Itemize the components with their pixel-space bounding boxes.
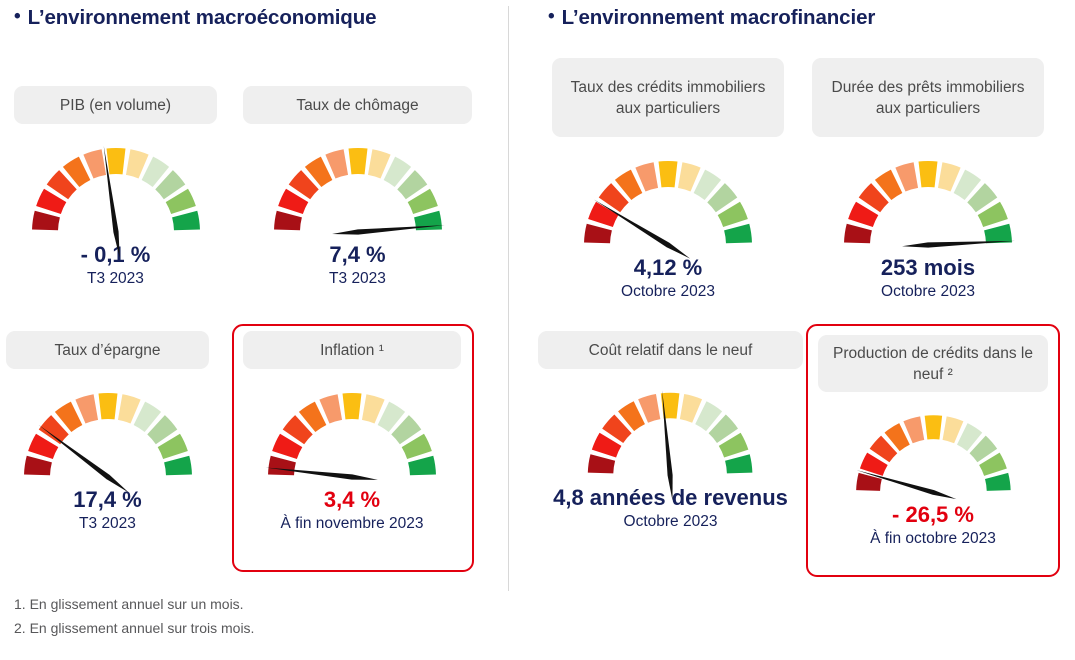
- gauge-label-chomage: Taux de chômage: [243, 86, 472, 124]
- gauge-segment: [32, 211, 60, 231]
- footnote-1: 1. En glissement annuel sur un mois.: [14, 592, 254, 616]
- infographic-board: •L’environnement macroéconomique •L’envi…: [0, 0, 1075, 660]
- gauge-chomage: [263, 138, 453, 238]
- gauge-label-inflation: Inflation ¹: [243, 331, 461, 369]
- gauge-segment: [588, 454, 615, 473]
- gauge-segment: [919, 161, 938, 187]
- panel-title-text: L’environnement macrofinancier: [562, 6, 876, 29]
- gauge-needle: [902, 241, 1015, 248]
- gauge-card-chomage: Taux de chômage7,4 %T3 2023: [243, 86, 472, 289]
- gauge-needle: [594, 200, 690, 259]
- gauge-dial: [13, 383, 203, 483]
- gauge-dial: [846, 406, 1021, 498]
- gauge-segment: [984, 224, 1012, 244]
- gauge-card-duree-prets: Durée des prêts immobiliers aux particul…: [812, 58, 1044, 302]
- gauge-value-epargne: 17,4 %: [6, 487, 209, 513]
- gauge-dial: [21, 138, 211, 238]
- gauge-label-epargne: Taux d’épargne: [6, 331, 209, 369]
- gauge-label-production-credits: Production de crédits dans le neuf ²: [818, 335, 1048, 392]
- gauge-duree-prets: [833, 151, 1023, 251]
- gauge-value-inflation: 3,4 %: [243, 487, 461, 513]
- gauge-period-cout-relatif: Octobre 2023: [538, 512, 803, 532]
- gauge-dial: [257, 383, 447, 483]
- gauge-value-production-credits: - 26,5 %: [818, 502, 1048, 528]
- gauge-dial: [577, 383, 763, 481]
- gauge-segment: [856, 473, 882, 491]
- gauge-segment: [172, 211, 200, 231]
- gauge-pib: [21, 138, 211, 238]
- footnotes: 1. En glissement annuel sur un mois. 2. …: [14, 592, 254, 640]
- gauge-segment: [725, 454, 752, 473]
- gauge-label-duree-prets: Durée des prêts immobiliers aux particul…: [812, 58, 1044, 137]
- gauge-period-chomage: T3 2023: [243, 269, 472, 289]
- gauge-segment: [348, 148, 367, 174]
- bullet-icon: •: [548, 7, 555, 26]
- gauge-card-production-credits: Production de crédits dans le neuf ²- 26…: [818, 335, 1048, 549]
- gauge-value-cout-relatif: 4,8 années de revenus: [538, 485, 803, 511]
- gauge-label-cout-relatif: Coût relatif dans le neuf: [538, 331, 803, 369]
- gauge-dial: [263, 138, 453, 238]
- gauge-dial: [573, 151, 763, 251]
- gauge-segment: [343, 393, 362, 419]
- gauge-label-taux-credits: Taux des crédits immobiliers aux particu…: [552, 58, 784, 137]
- gauge-period-pib: T3 2023: [14, 269, 217, 289]
- footnote-2: 2. En glissement annuel sur trois mois.: [14, 616, 254, 640]
- gauge-period-duree-prets: Octobre 2023: [812, 282, 1044, 302]
- gauge-segment: [408, 456, 436, 476]
- gauge-inflation: [257, 383, 447, 483]
- gauge-value-taux-credits: 4,12 %: [552, 255, 784, 281]
- gauge-period-taux-credits: Octobre 2023: [552, 282, 784, 302]
- gauge-card-pib: PIB (en volume)- 0,1 %T3 2023: [14, 86, 217, 289]
- gauge-card-epargne: Taux d’épargne17,4 %T3 2023: [6, 331, 209, 534]
- gauge-card-inflation: Inflation ¹3,4 %À fin novembre 2023: [243, 331, 461, 534]
- gauge-segment: [24, 456, 52, 476]
- gauge-epargne: [13, 383, 203, 483]
- gauge-dial: [833, 151, 1023, 251]
- gauge-segment: [584, 224, 612, 244]
- gauge-label-pib: PIB (en volume): [14, 86, 217, 124]
- gauge-production-credits: [846, 406, 1021, 498]
- gauge-segment: [844, 224, 872, 244]
- panel-title-macroeconomique: •L’environnement macroéconomique: [14, 6, 376, 30]
- gauge-segment: [268, 456, 296, 476]
- panel-title-macrofinancier: •L’environnement macrofinancier: [548, 6, 875, 30]
- bullet-icon: •: [14, 7, 21, 26]
- gauge-period-inflation: À fin novembre 2023: [243, 514, 461, 534]
- gauge-value-pib: - 0,1 %: [14, 242, 217, 268]
- gauge-card-taux-credits: Taux des crédits immobiliers aux particu…: [552, 58, 784, 302]
- gauge-period-production-credits: À fin octobre 2023: [818, 529, 1048, 549]
- gauge-segment: [659, 161, 678, 187]
- gauge-period-epargne: T3 2023: [6, 514, 209, 534]
- gauge-segment: [274, 211, 302, 231]
- panel-title-text: L’environnement macroéconomique: [28, 6, 377, 29]
- gauge-taux-credits: [573, 151, 763, 251]
- gauge-segment: [724, 224, 752, 244]
- gauge-card-cout-relatif: Coût relatif dans le neuf4,8 années de r…: [538, 331, 803, 532]
- gauge-segment: [985, 473, 1011, 491]
- gauge-segment: [98, 393, 117, 419]
- gauge-value-duree-prets: 253 mois: [812, 255, 1044, 281]
- gauge-cout-relatif: [577, 383, 763, 481]
- gauge-segment: [164, 456, 192, 476]
- gauge-segment: [106, 148, 125, 174]
- gauge-segment: [924, 415, 941, 439]
- gauge-value-chomage: 7,4 %: [243, 242, 472, 268]
